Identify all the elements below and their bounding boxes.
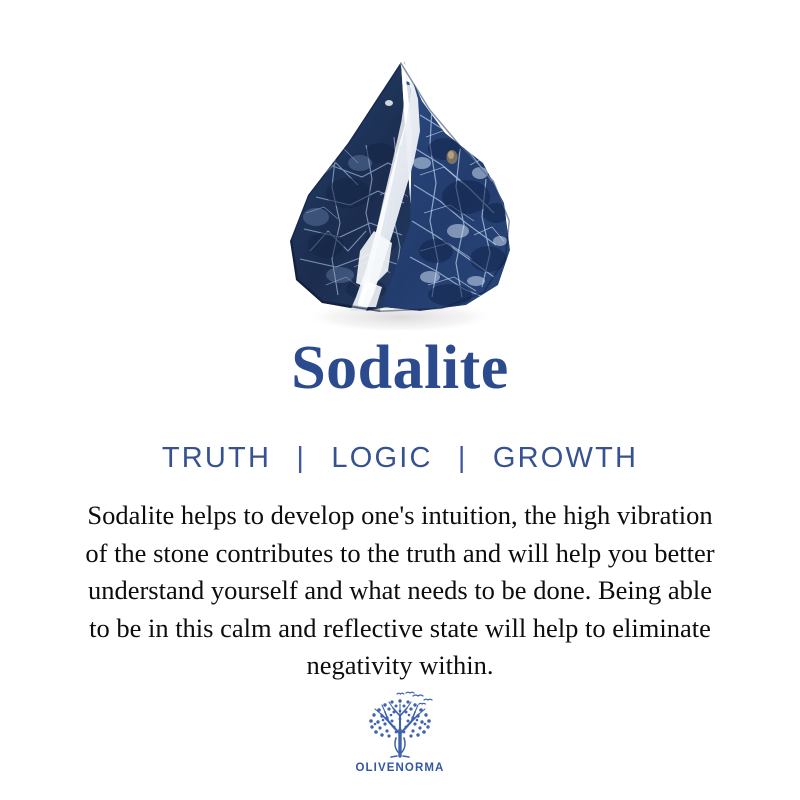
description-line: of the stone contributes to the truth an… bbox=[14, 535, 786, 573]
brand-logo: OLIVENORMA bbox=[0, 688, 800, 774]
description-line: understand yourself and what needs to be… bbox=[14, 572, 786, 610]
product-image-area bbox=[0, 0, 800, 330]
keyword-logic: LOGIC bbox=[331, 442, 432, 474]
birds-icon bbox=[397, 692, 432, 704]
sodalite-crystal-photo bbox=[270, 45, 530, 330]
keyword-separator-2: | bbox=[443, 442, 483, 474]
description-line: to be in this calm and reflective state … bbox=[14, 610, 786, 648]
brand-name: OLIVENORMA bbox=[0, 762, 800, 774]
tree-of-life-icon bbox=[361, 688, 439, 760]
description-line: Sodalite helps to develop one's intuitio… bbox=[14, 497, 786, 535]
page-title: Sodalite bbox=[0, 331, 800, 405]
keyword-separator-1: | bbox=[281, 442, 321, 474]
keyword-list: TRUTH | LOGIC | GROWTH bbox=[0, 440, 800, 476]
description-text: Sodalite helps to develop one's intuitio… bbox=[14, 497, 786, 685]
keyword-growth: GROWTH bbox=[493, 442, 638, 474]
sodalite-info-card: Sodalite TRUTH | LOGIC | GROWTH Sodalite… bbox=[0, 0, 800, 800]
sodalite-crystal-illustration bbox=[270, 45, 530, 330]
description-line: negativity within. bbox=[14, 647, 786, 685]
keyword-truth: TRUTH bbox=[162, 442, 271, 474]
